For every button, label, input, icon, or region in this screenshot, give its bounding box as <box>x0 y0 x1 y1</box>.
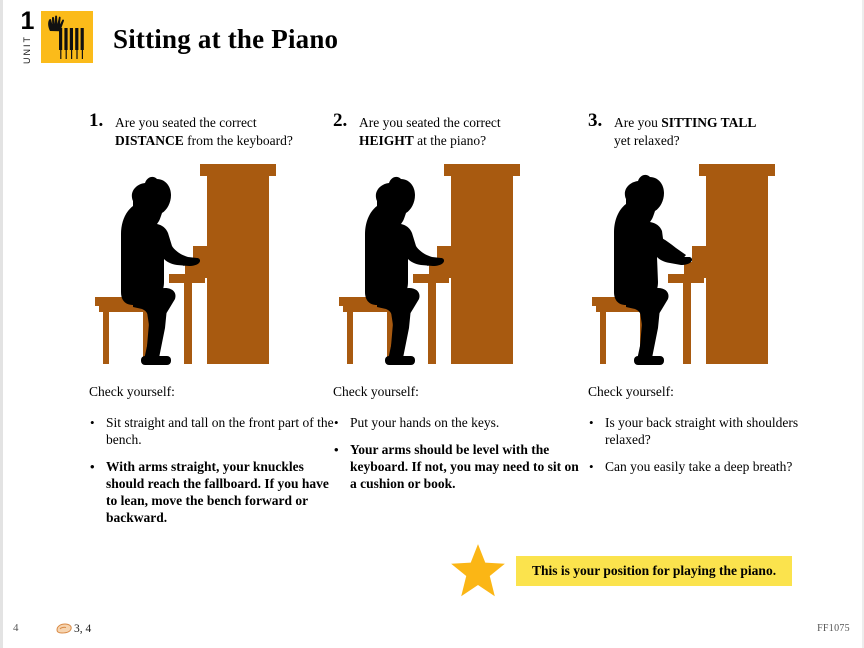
question-3: 3. Are you SITTING TALL yet relaxed? <box>588 112 836 150</box>
checklist-distance: •Sit straight and tall on the front part… <box>89 414 337 526</box>
question-line-1: Are you <box>614 115 661 130</box>
illustration-sitting-tall <box>588 162 836 377</box>
callout-text: This is your position for playing the pi… <box>532 563 776 579</box>
checklist-sitting-tall: •Is your back straight with shoulders re… <box>588 414 836 475</box>
unit-label: UNIT <box>22 35 32 64</box>
question-line-2: at the piano? <box>414 133 486 148</box>
question-line-2: yet relaxed? <box>614 133 680 148</box>
list-item-text: Can you easily take a deep breath? <box>605 459 792 474</box>
question-1: 1. Are you seated the correct DISTANCE f… <box>89 112 337 150</box>
cd-track-reference: 3, 4 <box>55 622 91 635</box>
page-canvas: 1 UNIT Sitting at the Piano <box>0 0 864 648</box>
unit-number: 1 <box>21 10 34 32</box>
bullet-icon: • <box>334 441 339 458</box>
question-text: Are you SITTING TALL yet relaxed? <box>614 112 756 150</box>
piano-posture-figure <box>588 162 818 377</box>
question-text: Are you seated the correct HEIGHT at the… <box>359 112 501 150</box>
bullet-icon: • <box>589 414 594 431</box>
illustration-height <box>333 162 581 377</box>
hand-piano-keys-icon <box>41 11 93 63</box>
list-item: •With arms straight, your knuckles shoul… <box>89 458 337 526</box>
list-item-text: Your arms should be level with the keybo… <box>350 442 579 491</box>
question-line-2: from the keyboard? <box>184 133 293 148</box>
question-keyword: DISTANCE <box>115 133 184 148</box>
list-item-text: Is your back straight with shoulders rel… <box>605 415 798 447</box>
question-line-1: Are you seated the correct <box>359 115 501 130</box>
question-number: 3. <box>588 112 614 130</box>
piano-keys-icon <box>58 28 88 59</box>
question-number: 1. <box>89 112 115 130</box>
star-icon <box>450 543 506 599</box>
bullet-icon: • <box>90 414 95 431</box>
unit-indicator: 1 UNIT <box>17 8 37 64</box>
question-number: 2. <box>333 112 359 130</box>
column-distance: 1. Are you seated the correct DISTANCE f… <box>89 112 337 536</box>
bullet-icon: • <box>589 458 594 475</box>
question-keyword: SITTING TALL <box>661 115 756 130</box>
page-title: Sitting at the Piano <box>113 24 338 54</box>
column-height: 2. Are you seated the correct HEIGHT at … <box>333 112 581 502</box>
question-2: 2. Are you seated the correct HEIGHT at … <box>333 112 581 150</box>
piano-posture-figure <box>89 162 319 377</box>
list-item: •Is your back straight with shoulders re… <box>588 414 836 448</box>
list-item-text: Put your hands on the keys. <box>350 415 499 430</box>
page-number: 4 <box>13 622 19 634</box>
callout-banner: This is your position for playing the pi… <box>516 556 792 586</box>
piano-posture-figure <box>333 162 563 377</box>
cd-disc-icon <box>55 622 73 635</box>
question-keyword: HEIGHT <box>359 133 414 148</box>
list-item: •Can you easily take a deep breath? <box>588 458 836 475</box>
catalog-number: FF1075 <box>817 623 850 634</box>
list-item-text: Sit straight and tall on the front part … <box>106 415 334 447</box>
question-line-1: Are you seated the correct <box>115 115 257 130</box>
position-callout: This is your position for playing the pi… <box>450 543 792 599</box>
page-footer: 4 3, 4 FF1075 <box>3 622 862 640</box>
column-sitting-tall: 3. Are you SITTING TALL yet relaxed? <box>588 112 836 485</box>
page-header: 1 UNIT Sitting at the Piano <box>17 8 338 64</box>
list-item: •Sit straight and tall on the front part… <box>89 414 337 448</box>
check-yourself-title: Check yourself: <box>89 383 337 401</box>
illustration-distance <box>89 162 337 377</box>
list-item-text: With arms straight, your knuckles should… <box>106 459 329 525</box>
cd-track-numbers: 3, 4 <box>74 623 91 635</box>
list-item: •Your arms should be level with the keyb… <box>333 441 581 492</box>
check-yourself-title: Check yourself: <box>333 383 581 401</box>
bullet-icon: • <box>90 458 95 475</box>
list-item: •Put your hands on the keys. <box>333 414 581 431</box>
bullet-icon: • <box>334 414 339 431</box>
check-yourself-title: Check yourself: <box>588 383 836 401</box>
checklist-height: •Put your hands on the keys. •Your arms … <box>333 414 581 492</box>
question-text: Are you seated the correct DISTANCE from… <box>115 112 293 150</box>
